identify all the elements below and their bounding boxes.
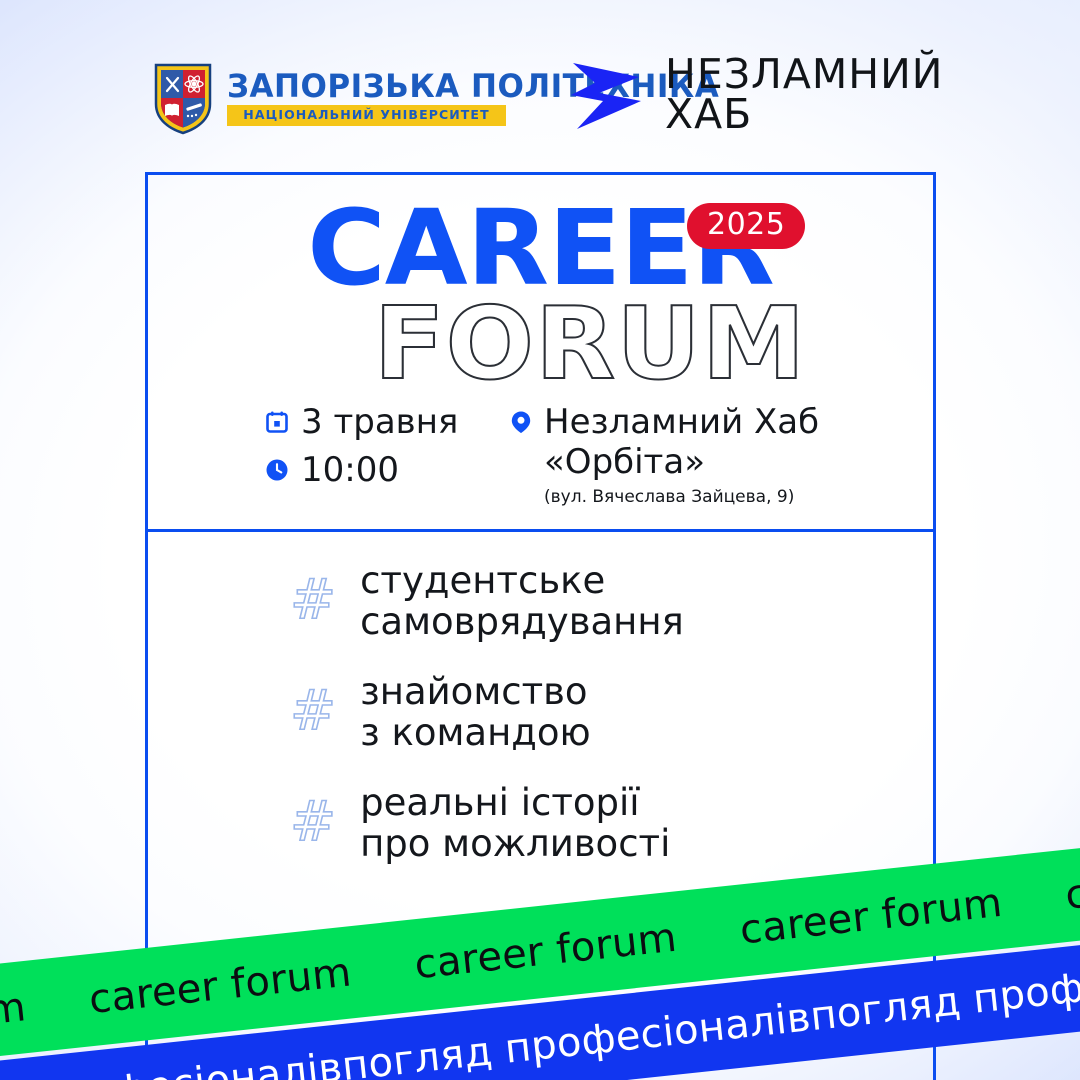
career-forum-poster: ЗАПОРІЗЬКА ПОЛІТЕХНІКА НАЦІОНАЛЬНИЙ УНІВ… (0, 0, 1080, 1080)
topic-text: реальні історії про можливості (360, 782, 670, 865)
topics-list: # студентське самоврядування # знайомств… (145, 560, 936, 893)
calendar-icon (265, 410, 289, 439)
list-item: # реальні історії про можливості (290, 782, 936, 865)
topic-line2: самоврядування (360, 601, 684, 642)
frame-divider-line (145, 529, 936, 532)
ribbon-item: forum (0, 984, 28, 1043)
ribbon-item: career forum (87, 949, 354, 1023)
topic-line1: реальні історії (360, 782, 670, 823)
ribbon-item: career forum (412, 915, 679, 989)
hash-icon: # (290, 683, 336, 738)
topic-line2: з командою (360, 712, 591, 753)
topic-text: студентське самоврядування (360, 560, 684, 643)
forum-row: FORUM (145, 294, 936, 394)
topic-line2: про можливості (360, 823, 670, 864)
university-shield-icon (152, 60, 214, 136)
topic-line1: знайомство (360, 671, 591, 712)
ribbon-item: career (1063, 859, 1080, 919)
university-subtitle-band: НАЦІОНАЛЬНИЙ УНІВЕРСИТЕТ (227, 105, 506, 126)
ribbon-item: career forum (738, 880, 1005, 954)
event-place-column: Незламний Хаб «Орбіта» (вул. Вячеслава З… (510, 403, 936, 515)
topic-text: знайомство з командою (360, 671, 591, 754)
event-address: (вул. Вячеслава Зайцева, 9) (544, 487, 819, 507)
list-item: # знайомство з командою (290, 671, 936, 754)
event-datetime-column: 3 травня 10:00 (265, 403, 510, 515)
university-subtitle: НАЦІОНАЛЬНИЙ УНІВЕРСИТЕТ (233, 109, 500, 122)
frame-top-line (145, 172, 936, 175)
topic-line1: студентське (360, 560, 684, 601)
event-date: 3 травня (301, 403, 458, 443)
event-place-row: Незламний Хаб «Орбіта» (вул. Вячеслава З… (510, 403, 936, 507)
event-place-line1: Незламний Хаб (544, 403, 819, 443)
header-logos: ЗАПОРІЗЬКА ПОЛІТЕХНІКА НАЦІОНАЛЬНИЙ УНІВ… (0, 0, 1080, 170)
hash-icon: # (290, 572, 336, 627)
event-date-row: 3 травня (265, 403, 510, 443)
hub-logo-text: НЕЗЛАМНИЙ ХАБ (665, 55, 943, 135)
title-block: CAREER 2025 FORUM (145, 196, 936, 396)
event-place-line2: «Орбіта» (544, 443, 819, 483)
hub-logo: НЕЗЛАМНИЙ ХАБ (569, 55, 943, 135)
lightning-bolt-icon (569, 57, 643, 133)
hub-logo-line2: ХАБ (665, 95, 943, 135)
event-time: 10:00 (301, 451, 399, 491)
clock-icon (265, 458, 289, 487)
title-forum: FORUM (374, 294, 807, 394)
map-pin-icon (510, 410, 532, 439)
year-badge: 2025 (687, 203, 805, 249)
event-place-text: Незламний Хаб «Орбіта» (вул. Вячеслава З… (544, 403, 819, 507)
hub-logo-line1: НЕЗЛАМНИЙ (665, 55, 943, 95)
list-item: # студентське самоврядування (290, 560, 936, 643)
hash-icon: # (290, 794, 336, 849)
event-time-row: 10:00 (265, 451, 510, 491)
event-details: 3 травня 10:00 (145, 403, 936, 515)
